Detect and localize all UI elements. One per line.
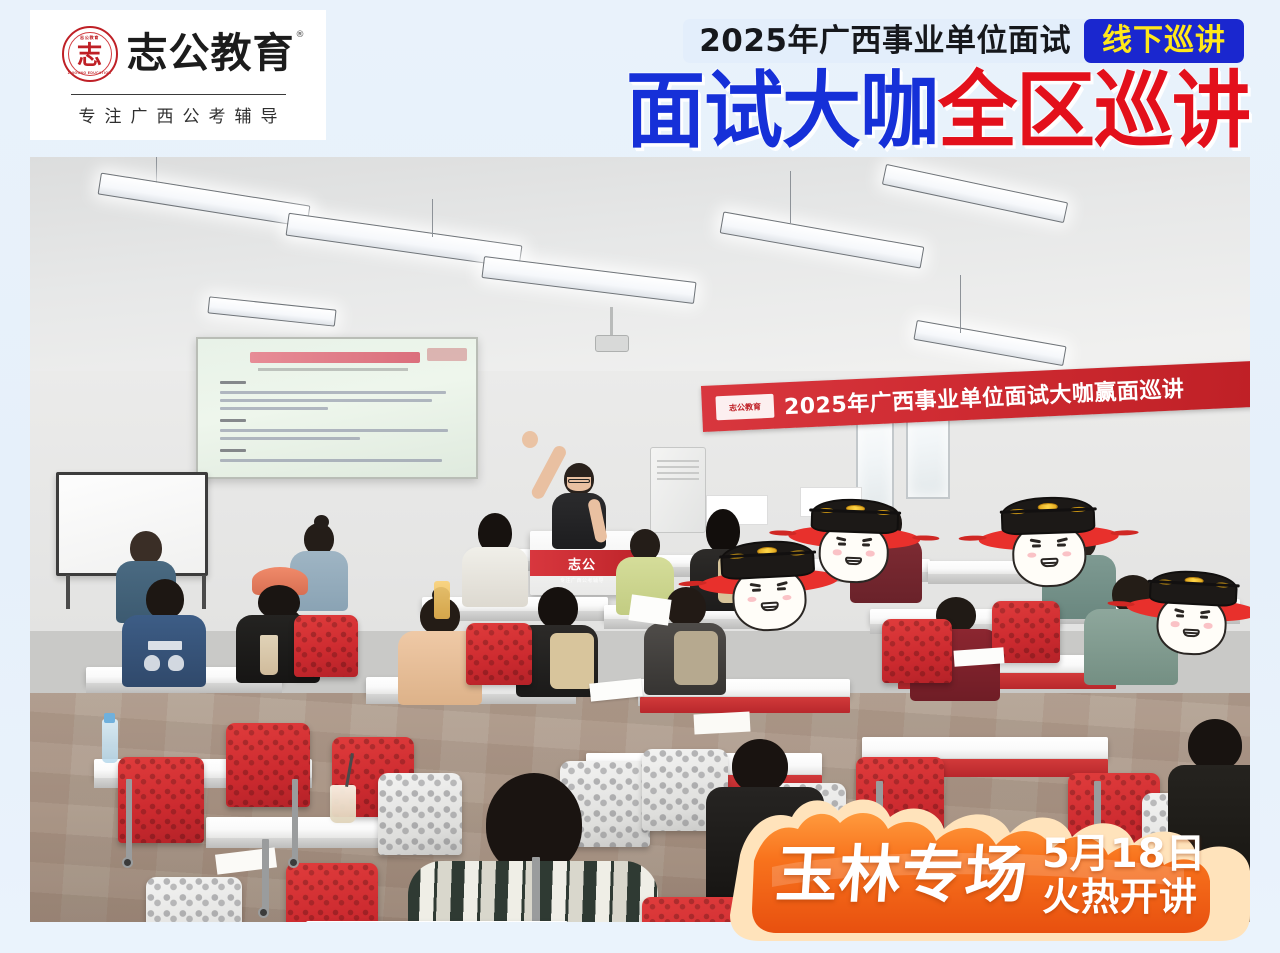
privacy-sticker-icon xyxy=(804,495,903,594)
sticker-cheek xyxy=(747,596,756,602)
instructor-hand xyxy=(522,431,538,448)
brand-name-text: 志公教育 xyxy=(127,29,295,77)
chair xyxy=(882,619,952,683)
slide-text-line xyxy=(220,391,446,394)
privacy-sticker-icon xyxy=(1142,567,1243,668)
sticker-brow xyxy=(836,537,847,542)
slide-subtitle xyxy=(258,368,408,371)
slide-text-line xyxy=(220,429,448,432)
student-head xyxy=(1188,719,1242,771)
shirt-print xyxy=(148,641,182,650)
promo-city: 玉林专场 xyxy=(774,844,1030,906)
desk-leg xyxy=(292,779,298,861)
desk xyxy=(306,921,568,922)
desk-leg xyxy=(532,857,540,922)
ac-vent xyxy=(657,460,699,462)
sticker-brow xyxy=(749,583,760,588)
kicker-main-text: 2025年广西事业单位面试 xyxy=(683,19,1084,63)
sticker-brow xyxy=(1174,608,1185,613)
hair-bun xyxy=(314,515,329,529)
seal-ring-bottom-text: ZHIGONG EDUCATION xyxy=(64,71,116,75)
sticker-brow xyxy=(777,581,789,587)
sticker-brow xyxy=(1200,610,1211,614)
sticker-cheek xyxy=(1171,621,1180,627)
ac-vent xyxy=(657,472,699,474)
promo-open: 火热开讲 xyxy=(1042,878,1206,916)
logo-row: 志公教育 志 ZHIGONG EDUCATION 志公教育 ® xyxy=(62,23,295,85)
sticker-mouth xyxy=(1183,628,1200,637)
sticker-brow xyxy=(1029,538,1040,543)
slide-title-bar xyxy=(250,352,420,363)
brand-name: 志公教育 ® xyxy=(127,33,295,74)
student-head xyxy=(538,587,578,629)
student-head xyxy=(130,531,162,565)
desk-leg xyxy=(262,839,269,911)
slide-text-line xyxy=(220,407,328,410)
wall-banner-logo: 志公教育 xyxy=(715,394,774,421)
headline-part-red: 全区巡讲 xyxy=(938,70,1250,154)
brand-tagline: 专注广西公考辅导 xyxy=(70,102,287,127)
sticker-official-hat xyxy=(1148,569,1238,608)
paper xyxy=(628,594,671,625)
desk-leg xyxy=(126,779,132,861)
promo-details: 5月18日 火热开讲 xyxy=(1042,834,1206,916)
ac-vent xyxy=(657,466,699,468)
slide-section-heading xyxy=(220,381,246,384)
sticker-eye xyxy=(862,544,870,547)
sticker-brow xyxy=(862,538,873,543)
projector-mount xyxy=(610,307,613,337)
sticker-cheek xyxy=(833,550,842,555)
sticker-brow xyxy=(1057,537,1069,543)
whiteboard-leg xyxy=(66,575,70,609)
light-wire xyxy=(432,199,433,237)
privacy-sticker-icon xyxy=(996,493,1101,598)
drink-cup xyxy=(260,635,278,675)
brand-seal-icon: 志公教育 志 ZHIGONG EDUCATION xyxy=(62,26,118,82)
student-head xyxy=(666,587,706,627)
desk-caster xyxy=(258,907,269,918)
sticker-cheek xyxy=(1204,623,1213,629)
registered-mark: ® xyxy=(296,31,306,40)
desk-caster xyxy=(288,857,299,868)
student xyxy=(122,579,208,689)
sticker-mouth xyxy=(1040,558,1058,567)
chair xyxy=(286,863,378,922)
promo-badge: 玉林专场 5月18日 火热开讲 xyxy=(714,795,1266,945)
light-wire xyxy=(790,171,791,223)
sticker-cheek xyxy=(782,595,791,601)
sticker-cheek xyxy=(1062,551,1071,557)
student-body xyxy=(122,615,206,687)
sticker-ear-dot xyxy=(912,535,939,541)
paper xyxy=(694,712,751,735)
drink-cup xyxy=(330,785,356,823)
sticker-eye xyxy=(1176,615,1184,618)
sticker-eye xyxy=(777,587,785,590)
page-title: 面试大咖 全区巡讲 xyxy=(626,72,1250,151)
slide-text-line xyxy=(220,459,442,462)
slide-text-line xyxy=(220,437,360,440)
header-kicker: 2025年广西事业单位面试 线下巡讲 xyxy=(683,19,1244,63)
sticker-eye xyxy=(1057,544,1065,547)
sticker-eye xyxy=(1032,545,1040,548)
glasses-icon xyxy=(568,479,590,483)
student-head xyxy=(732,739,788,793)
slide-logo xyxy=(427,348,467,361)
projector xyxy=(595,335,629,352)
sticker-eye xyxy=(752,589,760,592)
desk-caster xyxy=(122,857,133,868)
light-wire xyxy=(960,275,961,333)
sticker-cheek xyxy=(1027,552,1036,558)
instructor xyxy=(542,457,622,553)
sticker-cheek xyxy=(866,551,875,556)
promo-date: 5月18日 xyxy=(1042,834,1206,874)
promo-badge-text: 玉林专场 5月18日 火热开讲 xyxy=(776,827,1230,923)
chair xyxy=(146,877,242,922)
slide-section-heading xyxy=(220,419,246,422)
seal-character: 志 xyxy=(77,42,102,67)
sticker-mouth xyxy=(761,602,779,611)
sticker-official-hat xyxy=(1000,495,1095,535)
lectern-logo-text: 志公 xyxy=(568,554,596,573)
drink-bottle xyxy=(434,581,450,619)
desk-panel xyxy=(640,697,850,713)
backpack xyxy=(550,633,594,689)
chair xyxy=(466,623,532,685)
ac-vent xyxy=(657,478,699,480)
headline-part-blue: 面试大咖 xyxy=(626,70,938,154)
bottle-cap xyxy=(104,713,115,723)
kicker-badge: 线下巡讲 xyxy=(1084,19,1244,63)
sticker-official-hat xyxy=(810,497,899,535)
projector-screen xyxy=(196,337,478,479)
sticker-eye xyxy=(838,543,846,546)
desk xyxy=(862,737,1108,759)
brand-logo-block: 志公教育 志 ZHIGONG EDUCATION 志公教育 ® 专注广西公考辅导 xyxy=(30,10,326,140)
slide-text-line xyxy=(220,399,432,402)
water-bottle xyxy=(102,719,118,763)
slide-section-heading xyxy=(220,449,246,452)
student-head xyxy=(146,579,184,619)
sticker-eye xyxy=(1200,616,1208,619)
logo-divider xyxy=(71,94,286,96)
shirt-graphic xyxy=(168,655,184,671)
poster-root: 志公教育 志 ZHIGONG EDUCATION 志公教育 ® 专注广西公考辅导… xyxy=(0,0,1280,953)
backpack xyxy=(674,631,718,685)
sticker-mouth xyxy=(845,556,862,565)
shirt-graphic xyxy=(144,655,160,671)
chair xyxy=(294,615,358,677)
